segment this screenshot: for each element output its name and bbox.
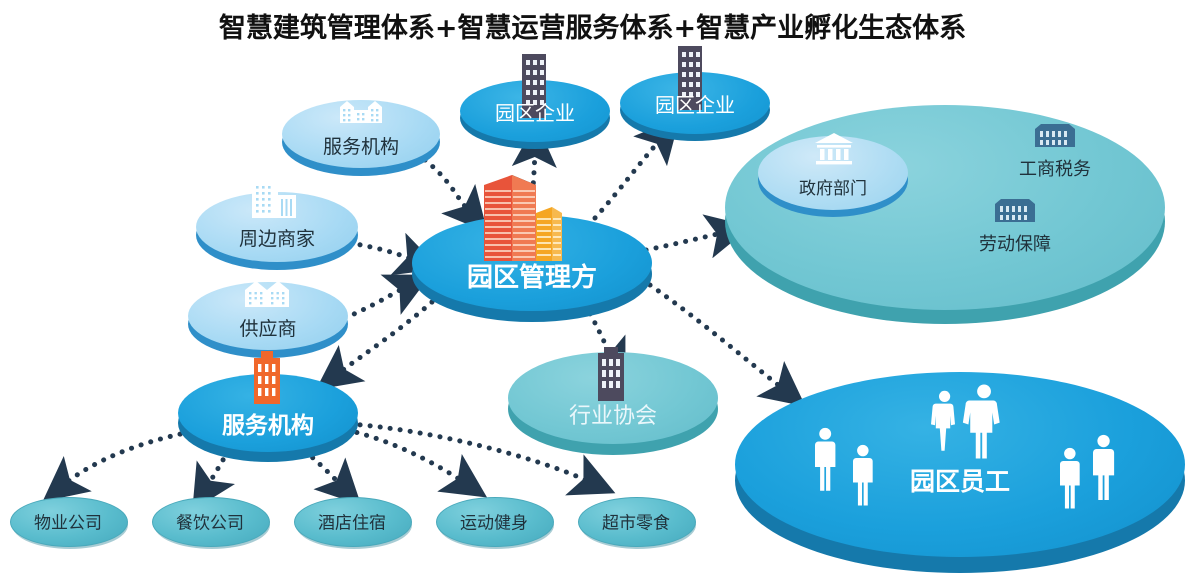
diagram-canvas: 智慧建筑管理体系+智慧运营服务体系+智慧产业孵化生态体系 xyxy=(0,0,1185,576)
page-title: 智慧建筑管理体系+智慧运营服务体系+智慧产业孵化生态体系 xyxy=(0,6,1185,45)
service-child-label: 物业公司 xyxy=(10,509,126,534)
park-company-2-node[interactable]: 园区企业 xyxy=(620,72,770,134)
industry-association-node[interactable]: 行业协会 xyxy=(508,352,718,444)
tax-bureau-label: 工商税务 xyxy=(1000,155,1110,181)
service-child-label: 酒店住宿 xyxy=(294,509,410,534)
edge-manager-to-serviceorg-main xyxy=(340,302,432,372)
edge-manager-to-company2 xyxy=(595,140,660,218)
nearby-merchant-node[interactable]: 周边商家 xyxy=(196,192,358,262)
edge-manager-to-company1 xyxy=(531,152,535,213)
service-child-property[interactable]: 物业公司 xyxy=(10,497,126,545)
labor-security-node[interactable]: 劳动保障 xyxy=(960,195,1070,256)
service-child-fitness[interactable]: 运动健身 xyxy=(436,497,552,545)
park-company-1-node[interactable]: 园区企业 xyxy=(460,80,610,142)
park-staff-node[interactable]: 园区员工 xyxy=(735,372,1185,557)
park-manager-node[interactable]: 园区管理方 xyxy=(412,215,652,311)
service-child-label: 运动健身 xyxy=(436,509,552,534)
govt-building-steel-icon xyxy=(1033,120,1077,153)
government-node[interactable]: 政府部门 xyxy=(758,136,908,210)
labor-security-label: 劳动保障 xyxy=(960,230,1070,256)
service-child-label: 超市零食 xyxy=(578,509,694,534)
service-child-label: 餐饮公司 xyxy=(152,509,268,534)
service-child-catering[interactable]: 餐饮公司 xyxy=(152,497,268,545)
service-org-main-node[interactable]: 服务机构 xyxy=(178,374,358,452)
tax-bureau-node[interactable]: 工商税务 xyxy=(1000,120,1110,181)
govt-building-steel-icon xyxy=(993,195,1037,228)
service-org-top-node[interactable]: 服务机构 xyxy=(282,100,440,168)
edge-manager-to-government-zone xyxy=(646,233,722,250)
service-child-hotel[interactable]: 酒店住宿 xyxy=(294,497,410,545)
edge-merchant-to-manager xyxy=(350,243,412,259)
service-child-supermarket[interactable]: 超市零食 xyxy=(578,497,694,545)
supplier-node[interactable]: 供应商 xyxy=(188,282,348,350)
edge-supplier-to-manager xyxy=(345,288,404,318)
edge-service-to-property xyxy=(66,432,190,483)
edge-service-to-fitness xyxy=(347,430,462,481)
